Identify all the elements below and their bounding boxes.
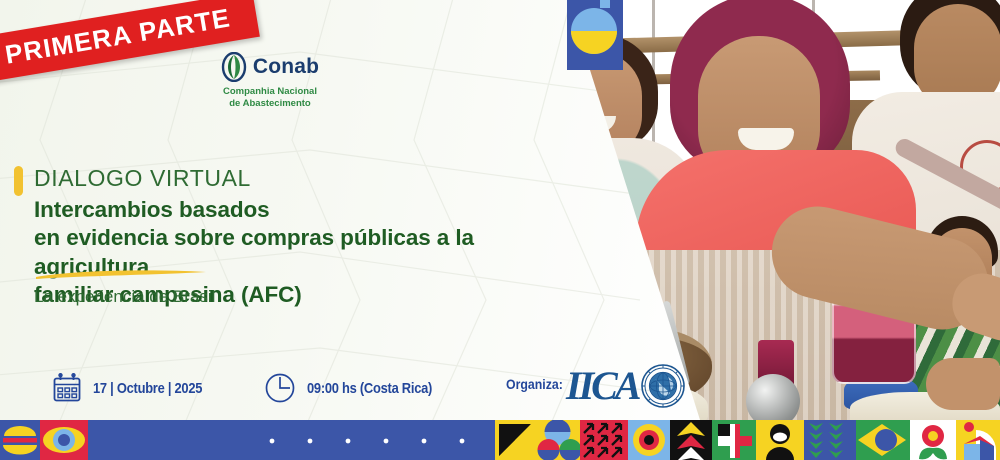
accent-bar bbox=[14, 166, 23, 196]
target-tile bbox=[628, 420, 670, 460]
event-time-text: 09:00 hs (Costa Rica) bbox=[307, 380, 432, 397]
banner-root: PRIMERA PARTE Conab Companhia Nacional d… bbox=[0, 0, 1000, 460]
kicker-text: DIALOGO VIRTUAL bbox=[34, 165, 251, 192]
eye-shape bbox=[40, 420, 88, 460]
cross-tile bbox=[712, 420, 756, 460]
arrows-tile bbox=[580, 420, 628, 460]
house-tile bbox=[956, 420, 1000, 460]
conab-tagline: Companhia Nacional de Abastecimento bbox=[205, 86, 335, 110]
three-circles bbox=[535, 420, 580, 460]
conab-tagline-line-1: Companhia Nacional bbox=[205, 86, 335, 98]
conab-leaf-icon bbox=[221, 52, 247, 82]
person-tile bbox=[756, 420, 804, 460]
yellow-underline-flourish bbox=[34, 268, 209, 280]
motif-notch bbox=[600, 0, 610, 8]
subtitle-text: La experiencia de Brasil bbox=[34, 287, 215, 307]
conab-tagline-line-2: de Abastecimento bbox=[205, 98, 335, 110]
headline-line-1: Intercambios basados bbox=[34, 196, 574, 224]
event-date: 17 | Octubre | 2025 bbox=[52, 373, 220, 403]
boy-hand bbox=[926, 358, 1000, 410]
organizer-label: Organiza: bbox=[506, 376, 563, 392]
woman-smile bbox=[738, 128, 794, 150]
wheat-tile bbox=[804, 420, 856, 460]
triangles-tile bbox=[495, 420, 535, 460]
event-date-text: 17 | Octubre | 2025 bbox=[93, 380, 202, 397]
calendar-icon bbox=[52, 373, 82, 403]
metal-bowl bbox=[746, 374, 800, 420]
conab-wordmark: Conab bbox=[253, 55, 319, 79]
flower-tile bbox=[910, 420, 956, 460]
burger-shape bbox=[0, 420, 40, 460]
decorative-bottom-strip bbox=[0, 420, 1000, 460]
event-time: 09:00 hs (Costa Rica) bbox=[264, 372, 452, 404]
conab-logo: Conab Companhia Nacional de Abasteciment… bbox=[205, 52, 335, 110]
globe-seal-icon bbox=[641, 364, 685, 408]
dotted-band bbox=[88, 420, 495, 460]
brazil-tile bbox=[856, 420, 910, 460]
iica-wordmark: IICA bbox=[566, 362, 639, 409]
event-meta-row: 17 | Octubre | 2025 09:00 hs (Costa Rica… bbox=[52, 372, 452, 404]
chevrons-tile bbox=[670, 420, 712, 460]
clock-icon bbox=[264, 372, 296, 404]
iica-logo: IICA bbox=[566, 362, 685, 409]
